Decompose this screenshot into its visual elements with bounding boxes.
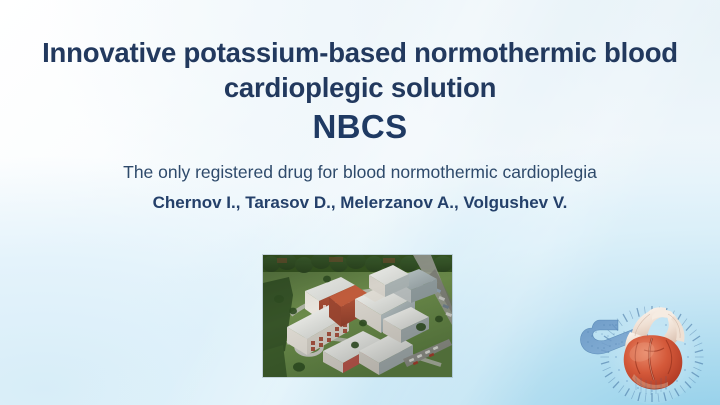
anatomical-heart-emblem: [578, 298, 720, 405]
heart-emblem-illustration: [578, 298, 720, 405]
page-title: Innovative potassium-based normothermic …: [0, 0, 720, 105]
slide-text-block: Innovative potassium-based normothermic …: [0, 0, 720, 214]
title-line-1: Innovative potassium-based normothermic …: [42, 37, 678, 68]
acronym-heading: NBCS: [0, 109, 720, 145]
authors-line: Chernov I., Tarasov D., Melerzanov A., V…: [0, 192, 720, 213]
presentation-slide: Innovative potassium-based normothermic …: [0, 0, 720, 405]
aerial-photo-medical-campus: [263, 255, 452, 377]
subtitle-text: The only registered drug for blood normo…: [0, 162, 720, 184]
aerial-photo-illustration: [263, 255, 452, 377]
title-line-2: cardioplegic solution: [224, 72, 496, 103]
